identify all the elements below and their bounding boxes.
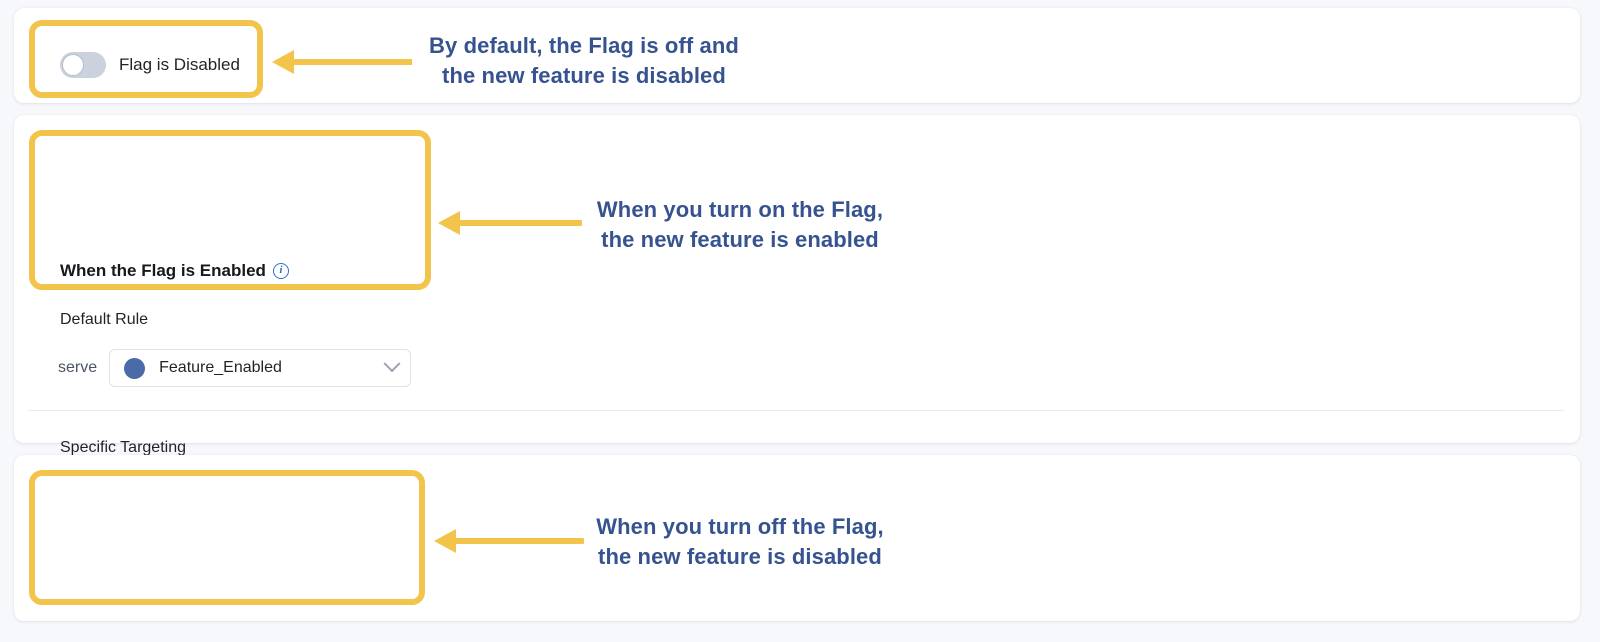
enabled-variant-select[interactable]: Feature_Enabled	[109, 349, 411, 387]
default-rule-serve-row: serve Feature_Enabled	[58, 349, 411, 387]
arrow-head-icon	[434, 529, 456, 553]
default-rule-label: Default Rule	[60, 311, 148, 329]
arrow-shaft	[292, 59, 412, 65]
toggle-knob-icon	[62, 54, 84, 76]
arrow-shaft	[458, 220, 582, 226]
arrow-shaft	[454, 538, 584, 544]
enabled-variant-value: Feature_Enabled	[159, 359, 372, 377]
variant-color-dot-icon	[124, 358, 145, 379]
serve-label: serve	[58, 359, 97, 377]
arrow-head-icon	[438, 211, 460, 235]
when-flag-enabled-title: When the Flag is Enabled	[60, 261, 266, 281]
when-flag-enabled-heading: When the Flag is Enabled i	[60, 261, 289, 281]
annotation-text-default-off: By default, the Flag is off and the new …	[414, 31, 754, 91]
info-icon[interactable]: i	[273, 263, 289, 279]
flag-toggle-label: Flag is Disabled	[119, 55, 240, 75]
flag-toggle-card: Flag is Disabled	[14, 8, 1580, 103]
flag-toggle-control[interactable]: Flag is Disabled	[60, 52, 240, 78]
flag-enabled-card: When the Flag is Enabled i Default Rule …	[14, 115, 1580, 443]
feature-flag-settings-page: Flag is Disabled When the Flag is Enable…	[0, 0, 1600, 642]
arrow-head-icon	[272, 50, 294, 74]
section-divider	[28, 410, 1564, 411]
annotation-text-turn-off: When you turn off the Flag, the new feat…	[580, 512, 900, 572]
flag-toggle-switch[interactable]	[60, 52, 106, 78]
annotation-text-turn-on: When you turn on the Flag, the new featu…	[580, 195, 900, 255]
chevron-down-icon[interactable]	[384, 355, 401, 372]
